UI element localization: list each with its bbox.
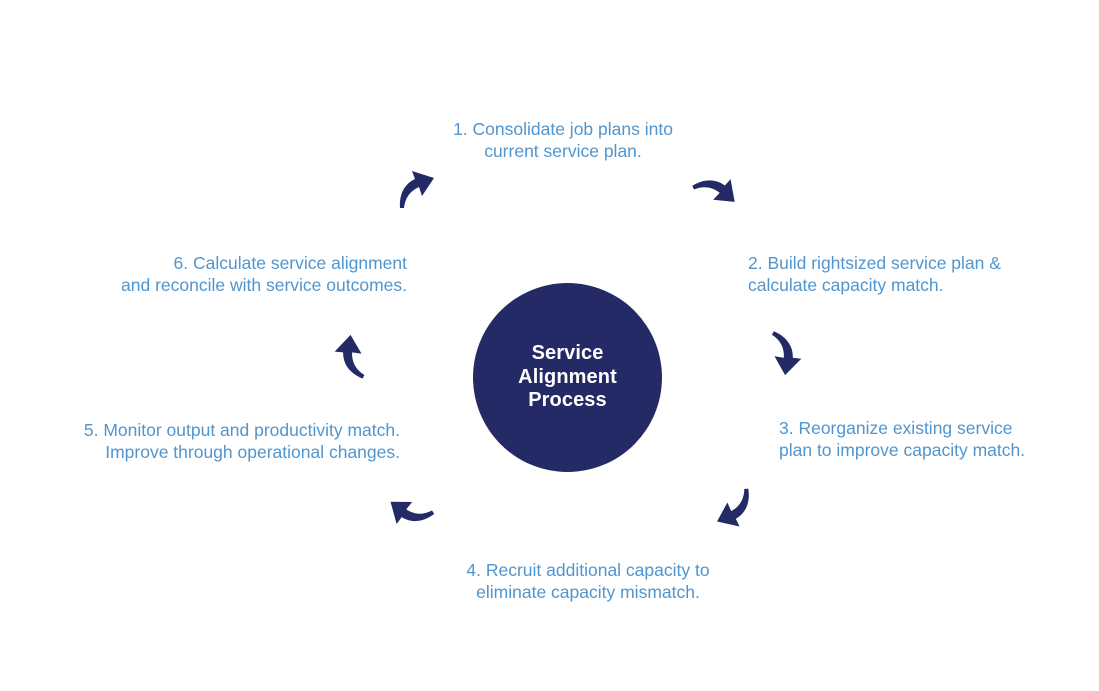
step-label-3: 3. Reorganize existing service plan to i… bbox=[779, 418, 1089, 461]
step-label-4: 4. Recruit additional capacity to elimin… bbox=[408, 560, 768, 603]
step-label-5: 5. Monitor output and productivity match… bbox=[8, 420, 400, 463]
step-label-1: 1. Consolidate job plans into current se… bbox=[383, 119, 743, 162]
process-diagram: Service Alignment Process 1. Consolidate… bbox=[0, 0, 1099, 691]
step-label-2: 2. Build rightsized service plan & calcu… bbox=[748, 253, 1088, 296]
arrow-step-5-to-6-icon bbox=[377, 478, 441, 542]
arrow-step-6-to-1-icon bbox=[322, 324, 384, 386]
arrow-step-4-to-5-icon bbox=[708, 484, 758, 534]
center-hub: Service Alignment Process bbox=[473, 283, 662, 472]
center-hub-label: Service Alignment Process bbox=[518, 342, 617, 413]
arrow-step-1-to-2-icon bbox=[394, 166, 440, 212]
arrow-step-2-to-3-icon bbox=[686, 161, 748, 223]
step-label-6: 6. Calculate service alignment and recon… bbox=[32, 253, 407, 296]
arrow-step-3-to-4-icon bbox=[752, 324, 814, 386]
